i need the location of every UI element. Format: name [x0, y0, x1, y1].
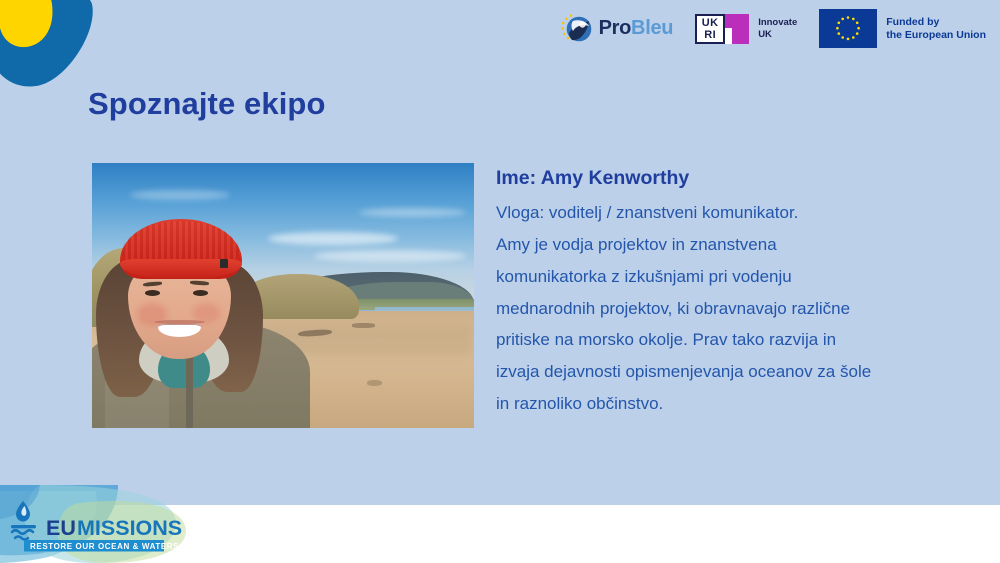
- eu-missions-tagline: RESTORE OUR OCEAN & WATERS: [30, 542, 179, 551]
- ukri-monogram-line1: UK: [697, 17, 723, 30]
- bio-line: in raznoliko občinstvo.: [496, 393, 936, 415]
- bio-line: pritiske na morsko okolje. Prav tako raz…: [496, 329, 936, 351]
- bio-block: Ime: Amy Kenworthy Vloga: voditelj / zna…: [496, 166, 936, 415]
- bio-body: Vloga: voditelj / znanstveni komunikator…: [496, 202, 936, 414]
- team-member-photo: [92, 163, 474, 428]
- photo-zipper: [186, 348, 192, 428]
- probleu-wordmark-pro: Pro: [599, 17, 631, 39]
- photo-driftwood: [367, 380, 382, 385]
- photo-eye: [145, 290, 160, 296]
- ukri-monogram: UK RI: [695, 14, 725, 44]
- photo-beanie-tag: [220, 259, 227, 268]
- bio-line: Amy je vodja projektov in znanstvena: [496, 234, 936, 256]
- photo-person: [92, 205, 306, 428]
- bio-line: izvaja dejavnosti opismenjevanja oceanov…: [496, 361, 936, 383]
- slide: Spoznajte ekipo: [0, 0, 1000, 563]
- eu-flag-icon: [819, 9, 877, 48]
- eu-funding-label-line2: the European Union: [886, 29, 986, 42]
- eu-missions-title-eu: EU: [46, 516, 76, 540]
- bio-line: mednarodnih projektov, ki obravnavajo ra…: [496, 298, 936, 320]
- innovate-uk-label-line1: Innovate: [758, 17, 797, 29]
- eu-funding-label-line1: Funded by: [886, 16, 986, 29]
- photo-eye: [193, 290, 208, 296]
- eu-missions-logo: EU MISSIONS RESTORE OUR OCEAN & WATERS: [0, 485, 205, 563]
- page-title: Spoznajte ekipo: [88, 86, 325, 122]
- probleu-globe-stars-icon: [560, 12, 594, 46]
- bio-line: komunikatorka z izkušnjami pri vodenju: [496, 266, 936, 288]
- innovate-uk-label: Innovate UK: [758, 17, 797, 40]
- bio-name: Ime: Amy Kenworthy: [496, 166, 936, 190]
- footer-logos: ProBleu UK RI Innovate UK: [560, 9, 986, 48]
- ukri-innovate-uk-icon: UK RI: [695, 14, 751, 44]
- innovate-uk-label-line2: UK: [758, 29, 797, 41]
- photo-cloud: [130, 190, 229, 201]
- probleu-logo: ProBleu: [560, 12, 674, 46]
- ukri-magenta-shape: [721, 14, 749, 44]
- eu-missions-title-missions: MISSIONS: [77, 516, 182, 540]
- photo-driftwood: [352, 323, 375, 327]
- eu-missions-droplet-leaf-mark-icon: [0, 0, 104, 98]
- probleu-wordmark: ProBleu: [599, 17, 674, 40]
- eu-funding-logo: Funded by the European Union: [819, 9, 986, 48]
- bio-line: Vloga: voditelj / znanstveni komunikator…: [496, 202, 936, 224]
- eu-funding-label: Funded by the European Union: [886, 16, 986, 42]
- innovate-uk-logo: UK RI Innovate UK: [695, 14, 797, 44]
- probleu-wordmark-bleu: Bleu: [631, 17, 673, 39]
- ukri-monogram-line2: RI: [697, 29, 723, 42]
